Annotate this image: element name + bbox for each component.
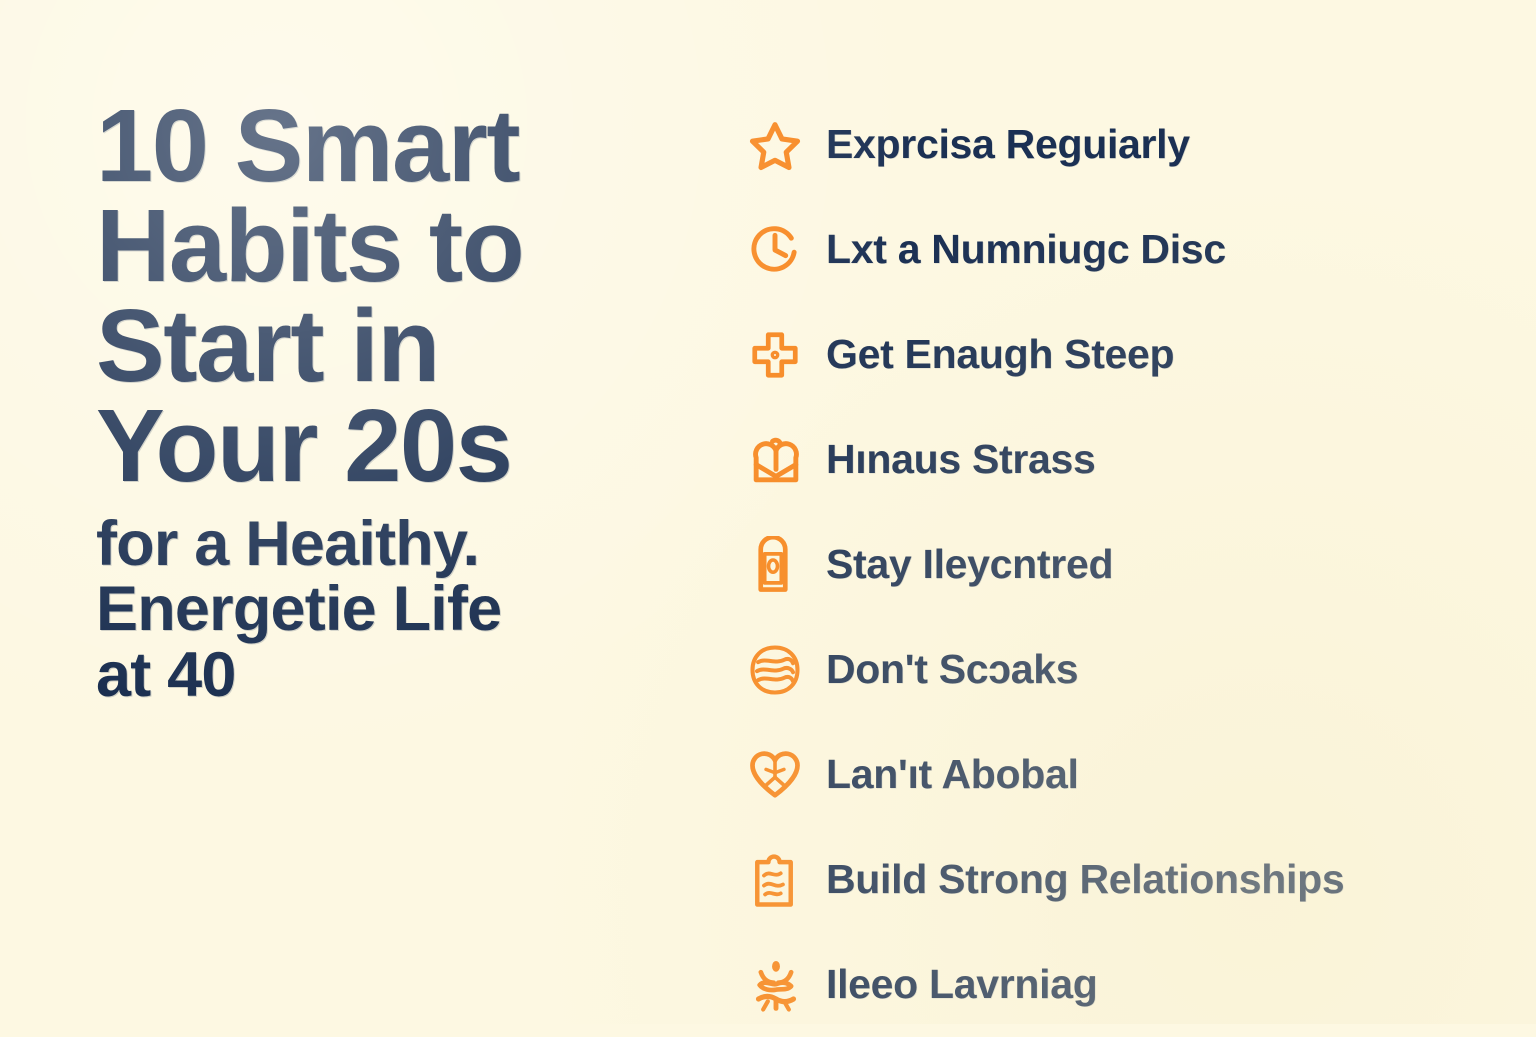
clock-icon <box>740 214 826 286</box>
list-item-label: Ileeo Lavrniag <box>826 964 1098 1005</box>
heart-icon <box>740 739 826 811</box>
list-item-label: Don't Scɔaks <box>826 649 1078 690</box>
infographic-poster: 10 Smart Habits to Start in Your 20s for… <box>0 0 1536 1024</box>
list-item: Stay Ileycntred <box>740 512 1536 617</box>
star-icon <box>740 109 826 181</box>
list-item: Don't Scɔaks <box>740 617 1536 722</box>
list-item-label: Lan'ıt Abobal <box>826 754 1079 795</box>
page-subtitle: for a Heaithy. Energetie Life at 40 <box>96 512 660 709</box>
medical-cross-icon <box>740 319 826 391</box>
list-item-label: Exprcisa Reguiarly <box>826 124 1190 165</box>
clipboard-icon <box>740 844 826 916</box>
page-title: 10 Smart Habits to Start in Your 20s <box>96 96 660 496</box>
list-item: Ileeo Lavrniag <box>740 932 1536 1037</box>
list-item-label: Hınaus Strass <box>826 439 1096 480</box>
headline-block: 10 Smart Habits to Start in Your 20s for… <box>0 0 660 708</box>
heart-basket-icon-row: Hınaus Strass <box>740 407 1536 512</box>
list-item-label: Lxt a Numniugc Disc <box>826 229 1226 270</box>
person-sun-icon <box>740 949 826 1021</box>
habits-list: Exprcisa Reguiarly Lxt a Numniugc Disc G… <box>660 0 1536 1037</box>
list-item: Get Enaugh Steep <box>740 302 1536 407</box>
list-item-label: Get Enaugh Steep <box>826 334 1174 375</box>
list-item-label: Build Strong Relationships <box>826 859 1344 900</box>
list-item: Build Strong Relationships <box>740 827 1536 932</box>
list-item-label: Stay Ileycntred <box>826 544 1113 585</box>
list-item: Lan'ıt Abobal <box>740 722 1536 827</box>
water-bottle-icon <box>740 529 826 601</box>
list-item: Exprcisa Reguiarly <box>740 92 1536 197</box>
lungs-icon <box>740 634 826 706</box>
list-item: Lxt a Numniugc Disc <box>740 197 1536 302</box>
heart-basket-icon <box>740 424 826 496</box>
